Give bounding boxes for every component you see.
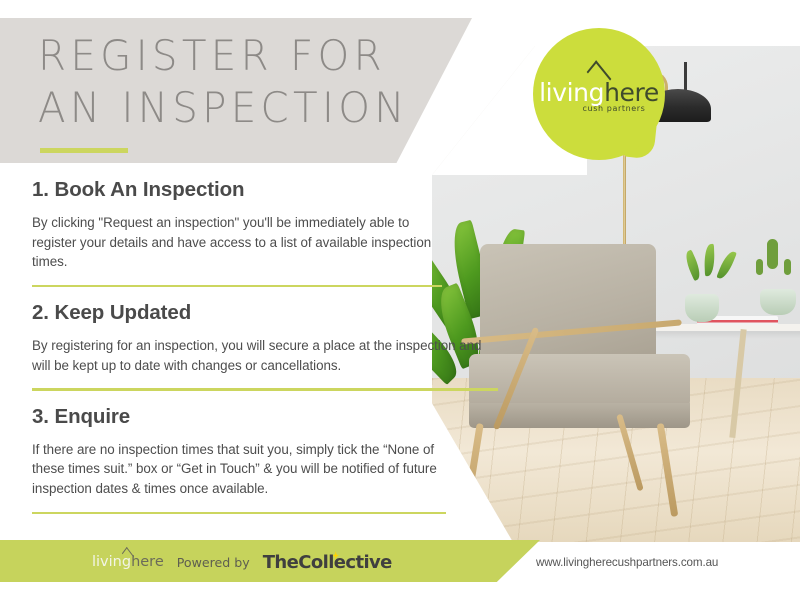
step-divider — [32, 285, 442, 288]
footer-word-here: here — [131, 554, 164, 570]
plant-pot-left — [685, 294, 719, 322]
cactus-arm-right — [784, 259, 791, 275]
the-collective-text: TheCollective — [263, 552, 392, 573]
step-body: By clicking "Request an inspection" you'… — [32, 213, 452, 272]
logo-wordmark: livinghere — [533, 80, 665, 105]
step-body: If there are no inspection times that su… — [32, 440, 450, 499]
the-collective-logo: TheCollective — [263, 552, 392, 573]
step-title: 1. Book An Inspection — [32, 178, 452, 202]
page-title-line2: An Inspection — [38, 83, 409, 132]
footer-branding: livinghere Powered by TheCollective — [92, 552, 392, 573]
logo-word-here: here — [604, 78, 659, 107]
step-title: 2. Keep Updated — [32, 301, 502, 325]
poster-canvas: Register ForAn Inspection livinghere cus… — [0, 0, 800, 600]
title-underline — [40, 148, 128, 153]
step-title: 3. Enquire — [32, 405, 452, 429]
logo-tagline: cush partners — [533, 104, 665, 113]
step-body: By registering for an inspection, you wi… — [32, 336, 502, 375]
cactus-arm-left — [756, 259, 763, 275]
step-divider — [32, 512, 446, 515]
logo-word-living: living — [539, 78, 604, 107]
steps-list: 1. Book An Inspection By clicking "Reque… — [32, 178, 452, 528]
step-item-2: 2. Keep Updated By registering for an in… — [32, 301, 452, 391]
page-title: Register ForAn Inspection — [38, 30, 422, 134]
plant-pot-right — [760, 289, 796, 315]
page-title-line1: Register For — [38, 31, 386, 80]
website-url: www.livingherecushpartners.com.au — [536, 556, 718, 569]
cactus-main — [767, 239, 778, 269]
step-item-1: 1. Book An Inspection By clicking "Reque… — [32, 178, 452, 287]
footer-living-here-logo: livinghere — [92, 555, 164, 570]
floor-lamp-stem — [684, 62, 687, 90]
step-divider — [32, 388, 498, 391]
powered-by-label: Powered by — [177, 555, 250, 570]
step-item-3: 3. Enquire If there are no inspection ti… — [32, 405, 452, 514]
